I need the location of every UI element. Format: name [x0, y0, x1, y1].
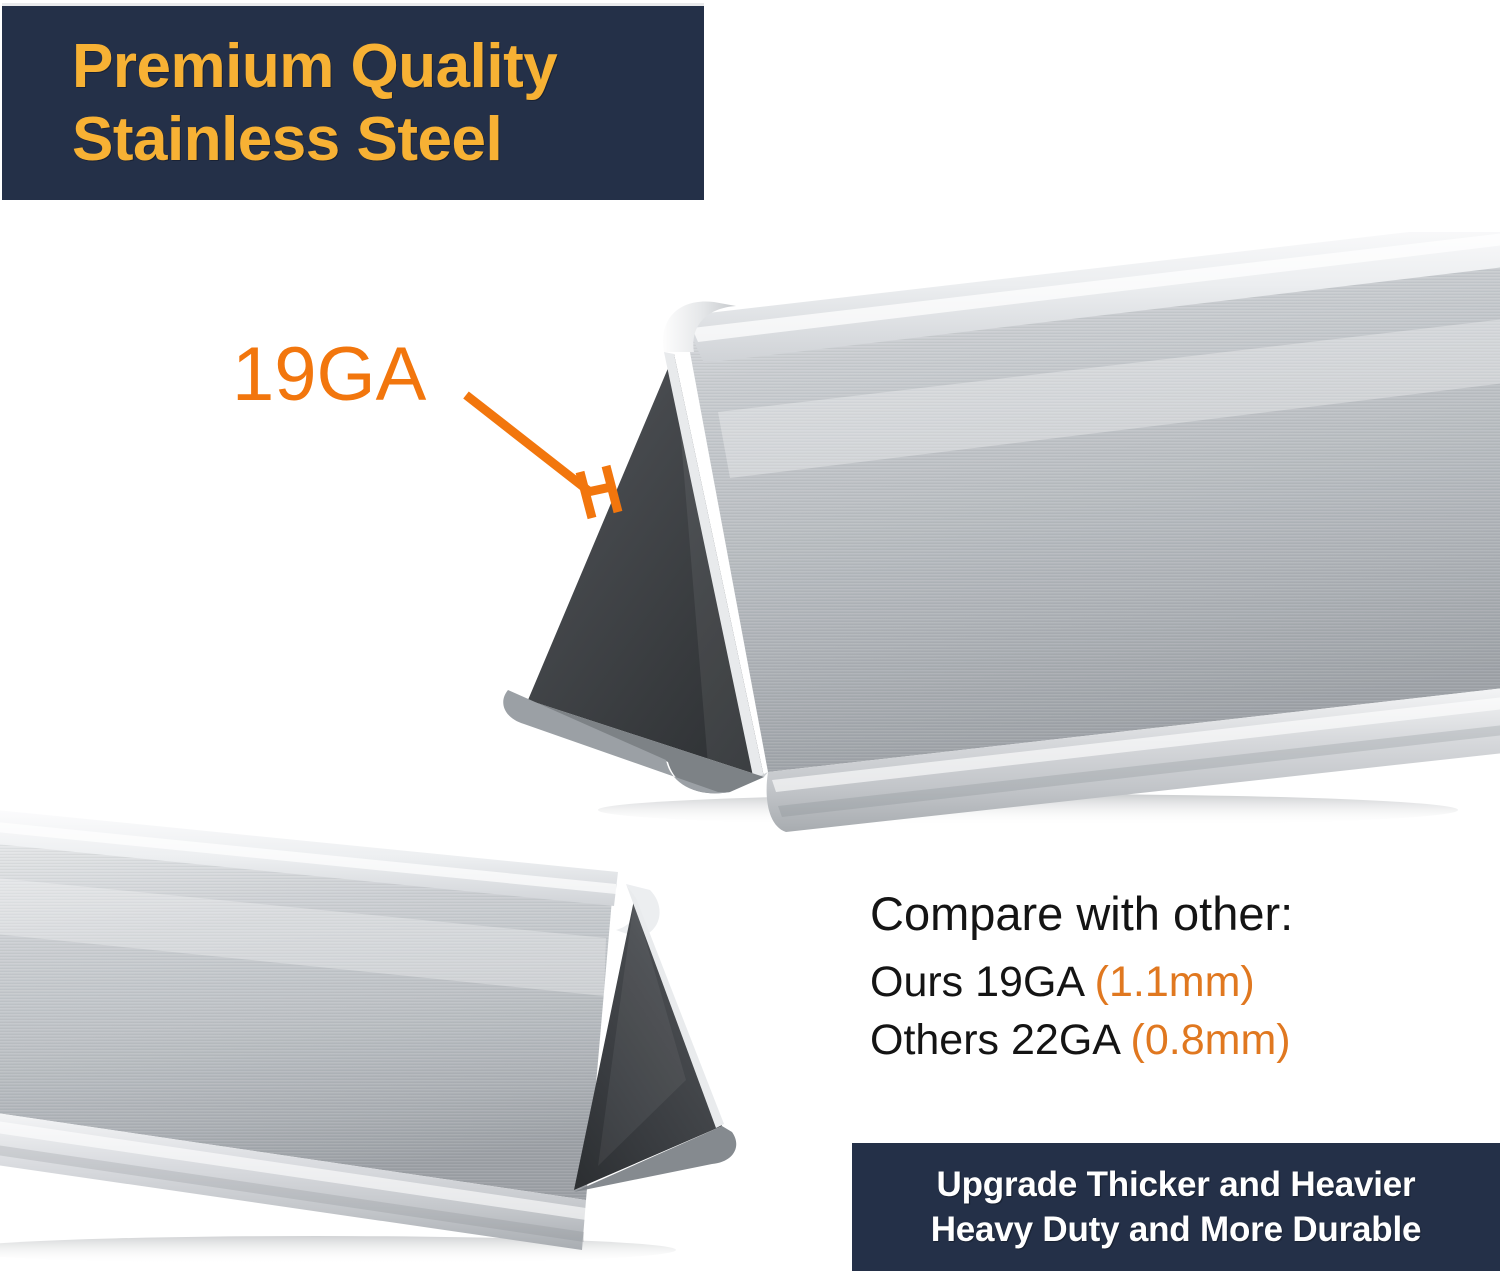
comparison-others-label: Others 22GA — [870, 1016, 1119, 1064]
comparison-heading: Compare with other: — [870, 888, 1490, 941]
comparison-others-value: (0.8mm) — [1131, 1016, 1291, 1064]
tagline-line-2: Heavy Duty and More Durable — [931, 1207, 1422, 1253]
tagline-line-1: Upgrade Thicker and Heavier — [937, 1162, 1416, 1208]
comparison-ours-value: (1.1mm) — [1095, 958, 1255, 1006]
product-infographic: Premium Quality Stainless Steel 19GA Com… — [0, 0, 1500, 1277]
headline-banner: Premium Quality Stainless Steel — [2, 3, 704, 200]
comparison-ours-label: Ours 19GA — [870, 958, 1083, 1006]
headline-line-2: Stainless Steel — [72, 103, 502, 176]
tagline-banner: Upgrade Thicker and Heavier Heavy Duty a… — [852, 1143, 1500, 1271]
headline-line-1: Premium Quality — [72, 30, 557, 103]
comparison-block: Compare with other: Ours 19GA (1.1mm) Ot… — [870, 888, 1490, 1070]
product-image-main-bar — [468, 232, 1500, 832]
gauge-callout-label: 19GA — [232, 337, 426, 413]
comparison-row-others: Others 22GA (0.8mm) — [870, 1011, 1490, 1069]
product-image-secondary-bar — [0, 780, 776, 1277]
comparison-row-ours: Ours 19GA (1.1mm) — [870, 953, 1490, 1011]
